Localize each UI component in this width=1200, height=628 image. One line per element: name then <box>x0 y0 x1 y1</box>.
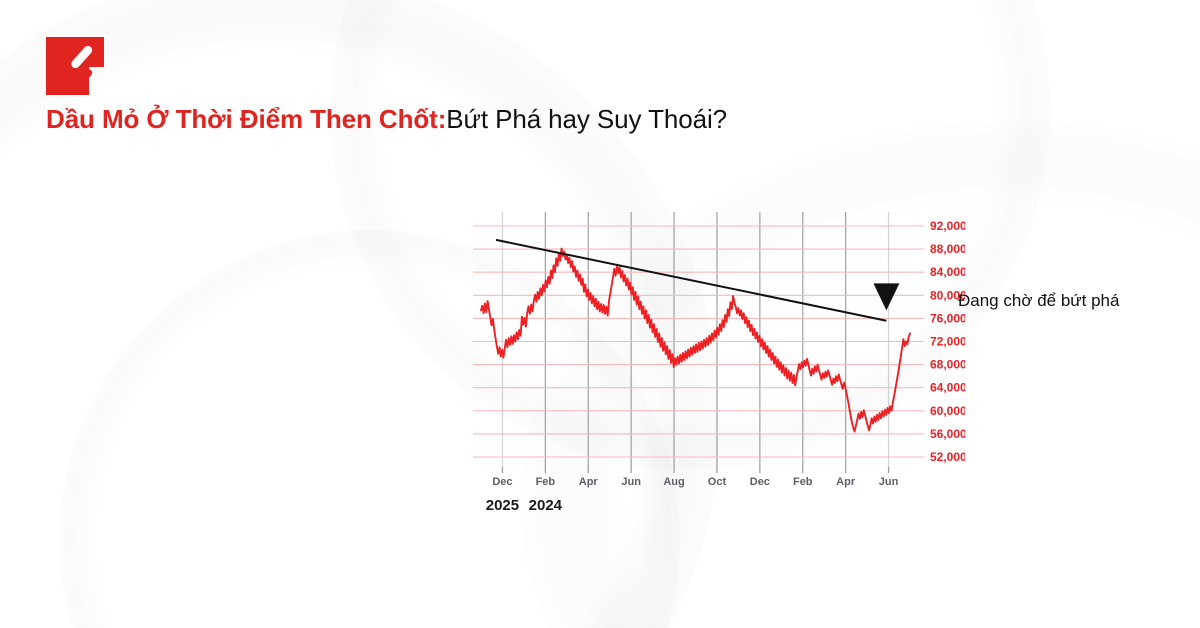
svg-text:Feb: Feb <box>793 476 813 488</box>
chart-trendline <box>496 240 886 321</box>
svg-text:Aug: Aug <box>663 476 684 488</box>
page-title-tail: Bứt Phá hay Suy Thoái? <box>446 104 727 134</box>
annotation-label: Đang chờ để bứt phá <box>958 291 1119 311</box>
svg-text:Dec: Dec <box>492 476 512 488</box>
svg-text:76,000: 76,000 <box>930 311 965 325</box>
svg-text:Dec: Dec <box>750 476 770 488</box>
chart-year-labels: 20242025 <box>486 497 563 514</box>
chart-vertical-gridlines <box>502 212 888 467</box>
svg-text:2025: 2025 <box>486 497 519 514</box>
page-title-lead: Dầu Mỏ Ở Thời Điểm Then Chốt: <box>46 104 446 134</box>
price-chart: 92,00088,00084,00080,00076,00072,00068,0… <box>455 205 965 515</box>
svg-text:56,000: 56,000 <box>930 427 965 441</box>
price-chart-canvas: 92,00088,00084,00080,00076,00072,00068,0… <box>455 205 965 515</box>
svg-text:92,000: 92,000 <box>930 219 965 233</box>
svg-text:52,000: 52,000 <box>930 450 965 464</box>
svg-text:Feb: Feb <box>536 476 556 488</box>
svg-text:64,000: 64,000 <box>930 381 965 395</box>
flipbook-square-logo-icon <box>46 37 104 95</box>
svg-text:Apr: Apr <box>579 476 599 488</box>
down-triangle-marker-icon <box>873 283 899 310</box>
svg-text:2024: 2024 <box>529 497 563 514</box>
brand-logo <box>46 37 104 95</box>
svg-text:72,000: 72,000 <box>930 335 965 349</box>
chart-x-axis-labels: DecFebAprJunAugOctDecFebAprJun <box>492 476 898 488</box>
svg-text:68,000: 68,000 <box>930 358 965 372</box>
svg-text:Jun: Jun <box>879 476 899 488</box>
chart-x-tickmarks <box>502 467 888 473</box>
page-title: Dầu Mỏ Ở Thời Điểm Then Chốt:Bứt Phá hay… <box>46 106 727 132</box>
svg-text:60,000: 60,000 <box>930 404 965 418</box>
svg-text:Oct: Oct <box>708 476 727 488</box>
svg-text:88,000: 88,000 <box>930 242 965 256</box>
svg-text:Apr: Apr <box>836 476 856 488</box>
svg-text:Jun: Jun <box>621 476 641 488</box>
chart-y-axis-labels: 92,00088,00084,00080,00076,00072,00068,0… <box>930 219 965 464</box>
svg-text:84,000: 84,000 <box>930 265 965 279</box>
